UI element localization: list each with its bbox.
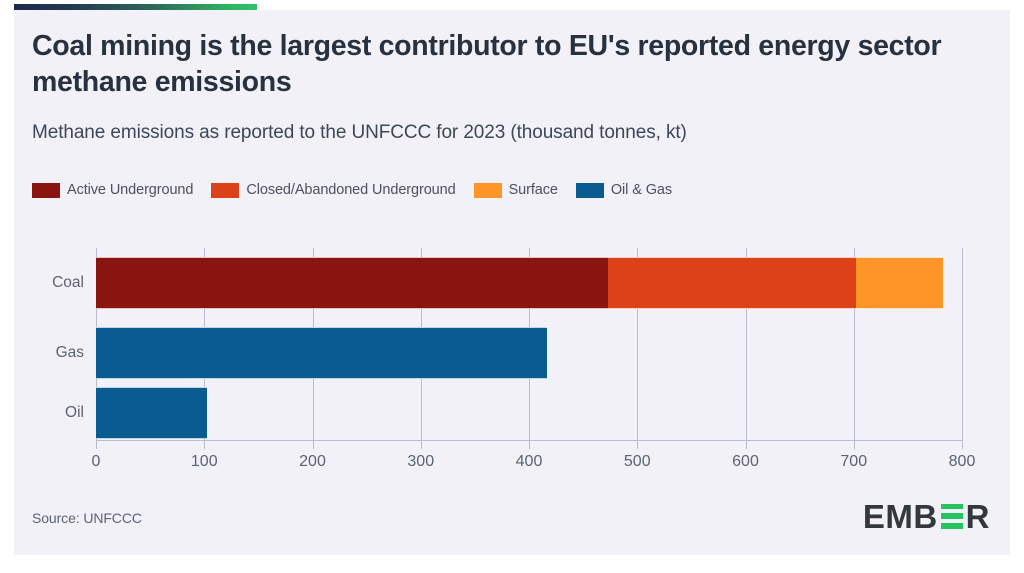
bar-segment[interactable] <box>96 257 608 309</box>
chart-bar-row[interactable]: Oil <box>96 387 207 439</box>
x-tick-label: 800 <box>949 453 976 471</box>
chart-card: Coal mining is the largest contributor t… <box>14 10 1010 555</box>
ember-logo-text: EMB R <box>863 500 990 533</box>
legend-item-surface[interactable]: Surface <box>474 182 558 198</box>
legend-label-surface: Surface <box>509 182 558 198</box>
legend-label-closed-abandoned-underground: Closed/Abandoned Underground <box>246 182 455 198</box>
x-tick-label: 100 <box>191 453 218 471</box>
chart-x-axis-line <box>96 440 962 441</box>
chart-plot-area: CoalGasOil 0100200300400500600700800 <box>32 235 982 475</box>
chart-bar-row[interactable]: Coal <box>96 257 943 309</box>
x-tick-label: 500 <box>624 453 651 471</box>
chart-subtitle: Methane emissions as reported to the UNF… <box>32 122 972 144</box>
source-note: Source: UNFCCC <box>32 510 142 526</box>
legend-item-active-underground[interactable]: Active Underground <box>32 182 193 198</box>
bar-segment[interactable] <box>96 387 207 439</box>
bar-segment[interactable] <box>856 257 943 309</box>
ember-logo-part2: R <box>966 500 990 533</box>
gridline <box>962 248 963 449</box>
category-label: Coal <box>52 274 84 292</box>
x-tick-label: 700 <box>840 453 867 471</box>
legend-item-closed-abandoned-underground[interactable]: Closed/Abandoned Underground <box>211 182 455 198</box>
legend-swatch-oil-and-gas <box>576 183 604 198</box>
x-tick-label: 400 <box>516 453 543 471</box>
legend-swatch-surface <box>474 183 502 198</box>
category-label: Gas <box>56 344 84 362</box>
x-tick-label: 300 <box>407 453 434 471</box>
x-tick-label: 0 <box>92 453 101 471</box>
ember-logo-green-e-icon <box>941 504 963 529</box>
legend-item-oil-and-gas[interactable]: Oil & Gas <box>576 182 672 198</box>
legend-label-active-underground: Active Underground <box>67 182 193 198</box>
chart-bars-container: CoalGasOil 0100200300400500600700800 <box>96 248 962 440</box>
ember-logo: EMB R <box>863 499 990 533</box>
x-tick-label: 200 <box>299 453 326 471</box>
ember-logo-part1: EMB <box>863 500 938 533</box>
legend-label-oil-and-gas: Oil & Gas <box>611 182 672 198</box>
legend-swatch-active-underground <box>32 183 60 198</box>
bar-segment[interactable] <box>608 257 856 309</box>
category-label: Oil <box>65 404 84 422</box>
legend-swatch-closed-abandoned-underground <box>211 183 239 198</box>
chart-bar-row[interactable]: Gas <box>96 327 547 379</box>
page-title: Coal mining is the largest contributor t… <box>32 28 972 101</box>
x-tick-label: 600 <box>732 453 759 471</box>
bar-segment[interactable] <box>96 327 547 379</box>
chart-legend: Active Underground Closed/Abandoned Unde… <box>32 182 672 198</box>
